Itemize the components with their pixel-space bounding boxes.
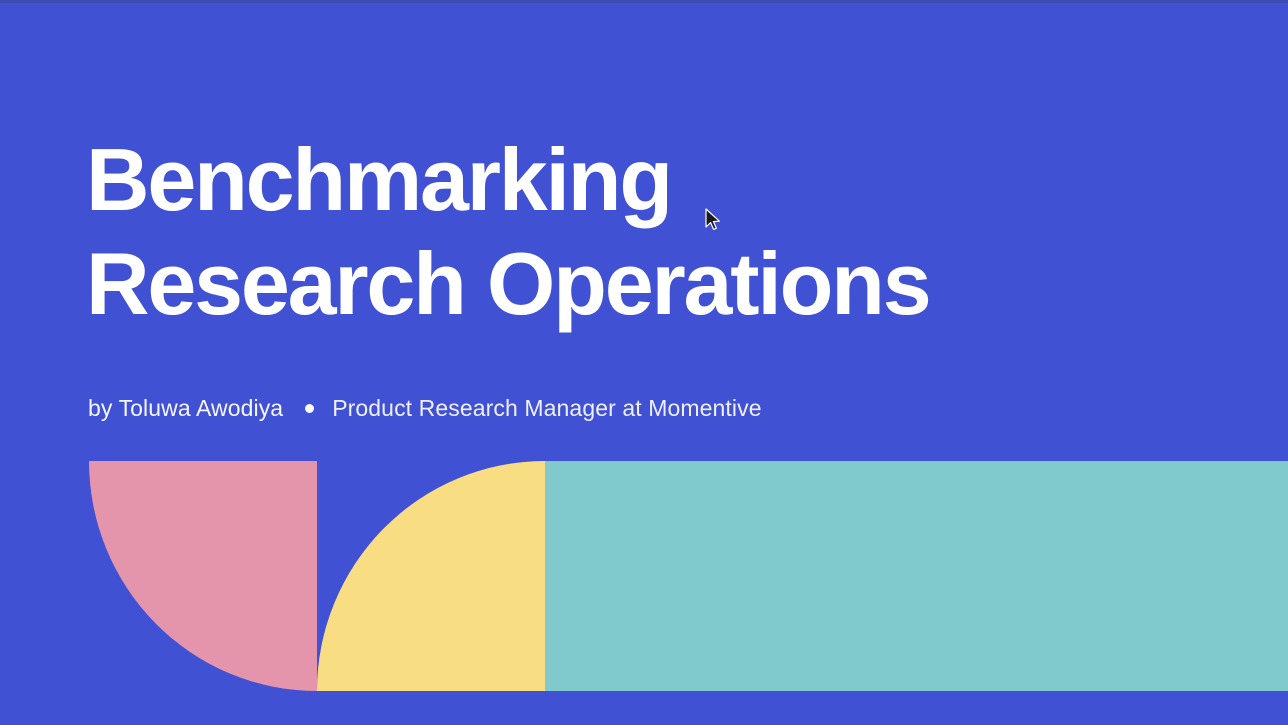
presentation-slide: Benchmarking Research Operations by Tolu… — [0, 0, 1288, 725]
decorative-shape-band — [0, 461, 1288, 691]
presenter-byline: by Toluwa Awodiya Product Research Manag… — [88, 392, 762, 424]
capture-top-edge — [0, 0, 1288, 3]
quarter-circle-pink-shape — [89, 461, 317, 691]
title-line-1: Benchmarking — [86, 128, 1186, 232]
presenter-name: by Toluwa Awodiya — [88, 392, 283, 424]
presenter-role: Product Research Manager at Momentive — [332, 392, 761, 424]
bullet-separator-icon — [305, 404, 314, 413]
rectangle-teal-shape — [545, 461, 1288, 691]
title-line-2: Research Operations — [86, 232, 1186, 336]
page-title: Benchmarking Research Operations — [86, 128, 1186, 336]
quarter-circle-yellow-shape — [317, 461, 545, 691]
